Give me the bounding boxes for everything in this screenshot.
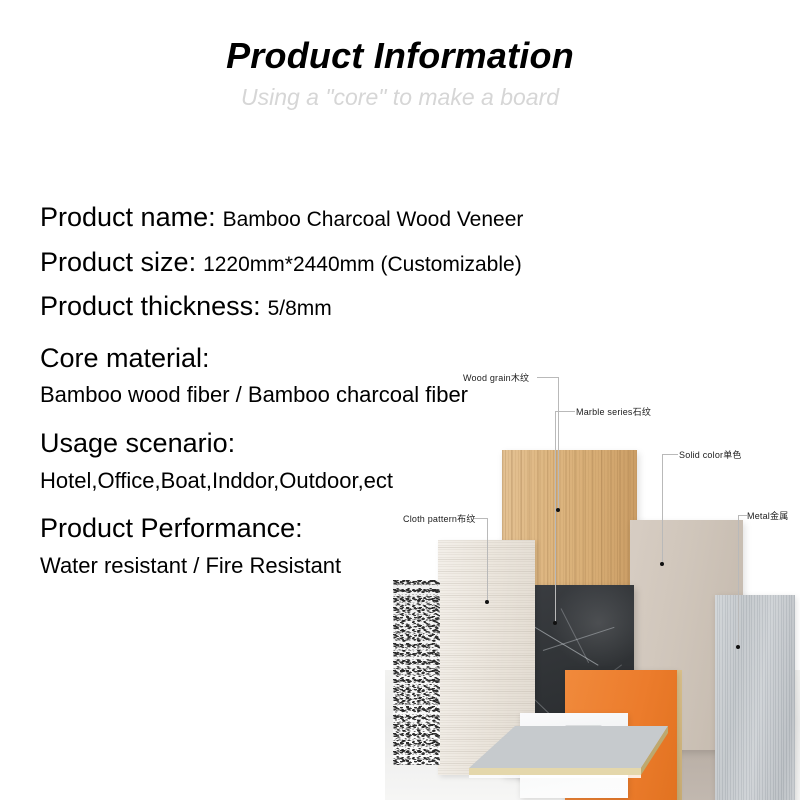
flat-panel-bottom-highlight xyxy=(469,775,641,778)
callout-dot-wood-grain xyxy=(556,508,560,512)
spec-label-product-name: Product name: xyxy=(40,200,216,235)
page-header: Product Information Using a "core" to ma… xyxy=(0,36,800,110)
spec-row-product-name: Product name: Bamboo Charcoal Wood Venee… xyxy=(40,200,600,235)
spec-value-usage-scenario: Hotel,Office,Boat,Inddor,Outdoor,ect xyxy=(40,467,393,495)
product-photo-composition: Wood grain木纹 Marble series石纹 Solid color… xyxy=(385,330,800,800)
panel-terrazzo-speckle xyxy=(393,580,440,765)
callout-line-marble-v xyxy=(555,411,556,623)
callout-line-marble-h xyxy=(555,411,575,412)
callout-label-solid-color: Solid color单色 xyxy=(679,451,742,460)
spec-label-product-thickness: Product thickness: xyxy=(40,289,261,324)
page-title: Product Information xyxy=(0,36,800,76)
flat-panel-core-edge xyxy=(469,768,641,775)
callout-label-wood-grain: Wood grain木纹 xyxy=(463,374,529,383)
callout-line-wood-grain-h xyxy=(537,377,559,378)
panel-flat-gray-core xyxy=(463,722,693,800)
callout-dot-marble-series xyxy=(553,621,557,625)
callout-line-cloth-h xyxy=(474,518,488,519)
callout-label-marble-series: Marble series石纹 xyxy=(576,408,651,417)
spec-row-product-thickness: Product thickness: 5/8mm xyxy=(40,289,600,324)
spec-value-product-size: 1220mm*2440mm (Customizable) xyxy=(196,252,522,279)
spec-value-product-thickness: 5/8mm xyxy=(261,296,332,323)
callout-dot-metal xyxy=(736,645,740,649)
spec-value-product-name: Bamboo Charcoal Wood Veneer xyxy=(216,207,524,234)
product-information-page: Product Information Using a "core" to ma… xyxy=(0,0,800,800)
callout-line-metal-h xyxy=(738,515,748,516)
callout-label-metal: Metal金属 xyxy=(747,512,788,521)
spec-value-product-performance: Water resistant / Fire Resistant xyxy=(40,552,341,580)
callout-dot-solid-color xyxy=(660,562,664,566)
spec-label-product-size: Product size: xyxy=(40,245,196,280)
callout-dot-cloth-pattern xyxy=(485,600,489,604)
spec-row-product-size: Product size: 1220mm*2440mm (Customizabl… xyxy=(40,245,600,280)
flat-panel-top-face xyxy=(469,726,668,768)
panel-metal-brushed xyxy=(715,595,795,800)
callout-line-cloth-v xyxy=(487,518,488,602)
spec-label-usage-scenario: Usage scenario: xyxy=(40,426,235,461)
callout-line-solid-h xyxy=(662,454,678,455)
callout-label-cloth-pattern: Cloth pattern布纹 xyxy=(403,515,476,524)
callout-line-metal-v xyxy=(738,515,739,647)
callout-line-solid-v xyxy=(662,454,663,564)
page-subtitle: Using a "core" to make a board xyxy=(0,85,800,110)
spec-label-product-performance: Product Performance: xyxy=(40,511,303,546)
spec-label-core-material: Core material: xyxy=(40,341,210,376)
callout-line-wood-grain-v xyxy=(558,377,559,510)
